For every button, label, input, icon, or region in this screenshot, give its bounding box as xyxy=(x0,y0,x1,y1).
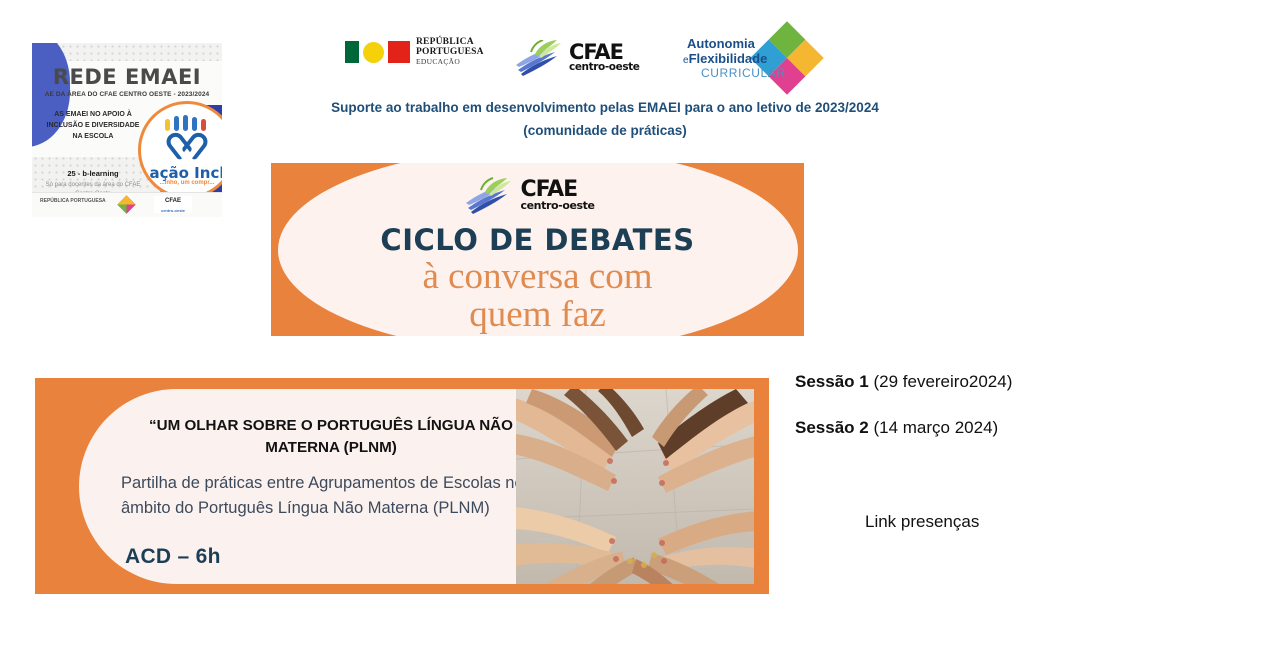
republica-portuguesa-logo: REPÚBLICA PORTUGUESA EDUCAÇÃO xyxy=(345,38,484,67)
circle-tagline: ...inho, um compr... xyxy=(141,180,222,186)
photo-hands-illustration xyxy=(516,389,754,584)
plnm-banner[interactable]: “UM OLHAR SOBRE O PORTUGUÊS LÍNGUA NÃO M… xyxy=(35,378,769,594)
banner-subtitle-line1: à conversa com xyxy=(271,258,804,296)
session-2-date: (14 março 2024) xyxy=(873,418,998,437)
banner-title: CICLO DE DEBATES xyxy=(271,223,804,257)
cfae-centro-oeste-logo: CFAE centro-oeste xyxy=(513,34,653,80)
plnm-body: Partilha de práticas entre Agrupamentos … xyxy=(121,471,551,521)
portugal-flag-icon xyxy=(345,41,410,63)
ciclo-de-debates-banner[interactable]: CFAE centro-oeste CICLO DE DEBATES à con… xyxy=(271,163,804,336)
poster-footer-cfae-logo: CFAE centro-oeste xyxy=(154,196,192,213)
session-row-2: Sessão 2 (14 março 2024) xyxy=(795,416,1125,440)
cfae-swoosh-icon xyxy=(513,40,565,78)
inclusion-circle-logo: ação Incl ...inho, um compr... xyxy=(138,101,222,199)
afc-diamond-icon xyxy=(117,195,135,213)
autonomia-flexibilidade-curricular-logo: Autonomia eFlexibilidade CURRICULAR xyxy=(683,30,813,85)
poster-subtitle: AE DA ÁREA DO CFAE CENTRO OESTE - 2023/2… xyxy=(42,91,212,98)
poster-title: REDE EMAEI xyxy=(32,65,222,89)
cfae-text-line2: centro-oeste xyxy=(569,61,640,73)
afc-line2-main: Flexibilidade xyxy=(689,51,768,66)
plnm-acd-hours: ACD – 6h xyxy=(125,545,221,569)
session-1-date: (29 fevereiro2024) xyxy=(873,372,1012,391)
banner-cfae-line2: centro-oeste xyxy=(521,199,595,212)
poster-footer: REPÚBLICA PORTUGUESA CFAE centro-oeste xyxy=(32,192,222,217)
plnm-title: “UM OLHAR SOBRE O PORTUGUÊS LÍNGUA NÃO M… xyxy=(121,415,541,459)
banner-subtitle: à conversa com quem faz xyxy=(271,258,804,334)
cfae-swoosh-icon xyxy=(463,177,515,217)
logos-row: REPÚBLICA PORTUGUESA EDUCAÇÃO CFAE centr… xyxy=(345,30,815,85)
flag-green-bar xyxy=(345,41,359,63)
afc-line3: CURRICULAR xyxy=(701,66,786,80)
rp-line2: PORTUGUESA xyxy=(416,48,484,58)
hands-circle-photo xyxy=(516,389,754,584)
link-presencas[interactable]: Link presenças xyxy=(865,512,979,532)
heart-icon xyxy=(169,132,205,162)
session-2-label: Sessão 2 xyxy=(795,418,869,437)
rp-line3: EDUCAÇÃO xyxy=(416,57,484,67)
banner-subtitle-line2: quem faz xyxy=(271,296,804,334)
flag-red-bar xyxy=(388,41,410,63)
session-1-label: Sessão 1 xyxy=(795,372,869,391)
republica-portuguesa-text: REPÚBLICA PORTUGUESA EDUCAÇÃO xyxy=(416,38,484,67)
poster-body-text: AS EMAEI NO APOIO À INCLUSÃO E DIVERSIDA… xyxy=(44,109,142,142)
hand-fingers-icon xyxy=(165,116,209,132)
rede-emaei-poster[interactable]: REDE EMAEI AE DA ÁREA DO CFAE CENTRO OES… xyxy=(32,43,222,217)
afc-line1: Autonomia xyxy=(687,36,755,51)
poster-hours: 25 - b-learning xyxy=(44,169,142,178)
sessions-list: Sessão 1 (29 fevereiro2024) Sessão 2 (14… xyxy=(795,370,1125,462)
afc-line2: eFlexibilidade xyxy=(683,51,767,66)
flag-yellow-circle xyxy=(363,42,384,63)
poster-footer-cfae-line1: CFAE xyxy=(165,198,181,204)
poster-footer-republica-label: REPÚBLICA PORTUGUESA xyxy=(40,198,106,204)
plnm-text-card: “UM OLHAR SOBRE O PORTUGUÊS LÍNGUA NÃO M… xyxy=(79,389,539,584)
page-heading: Suporte ao trabalho em desenvolvimento p… xyxy=(325,96,885,142)
banner-cfae-logo: CFAE centro-oeste xyxy=(463,175,613,219)
session-row-1: Sessão 1 (29 fevereiro2024) xyxy=(795,370,1125,394)
poster-footer-cfae-line2: centro-oeste xyxy=(154,206,192,215)
